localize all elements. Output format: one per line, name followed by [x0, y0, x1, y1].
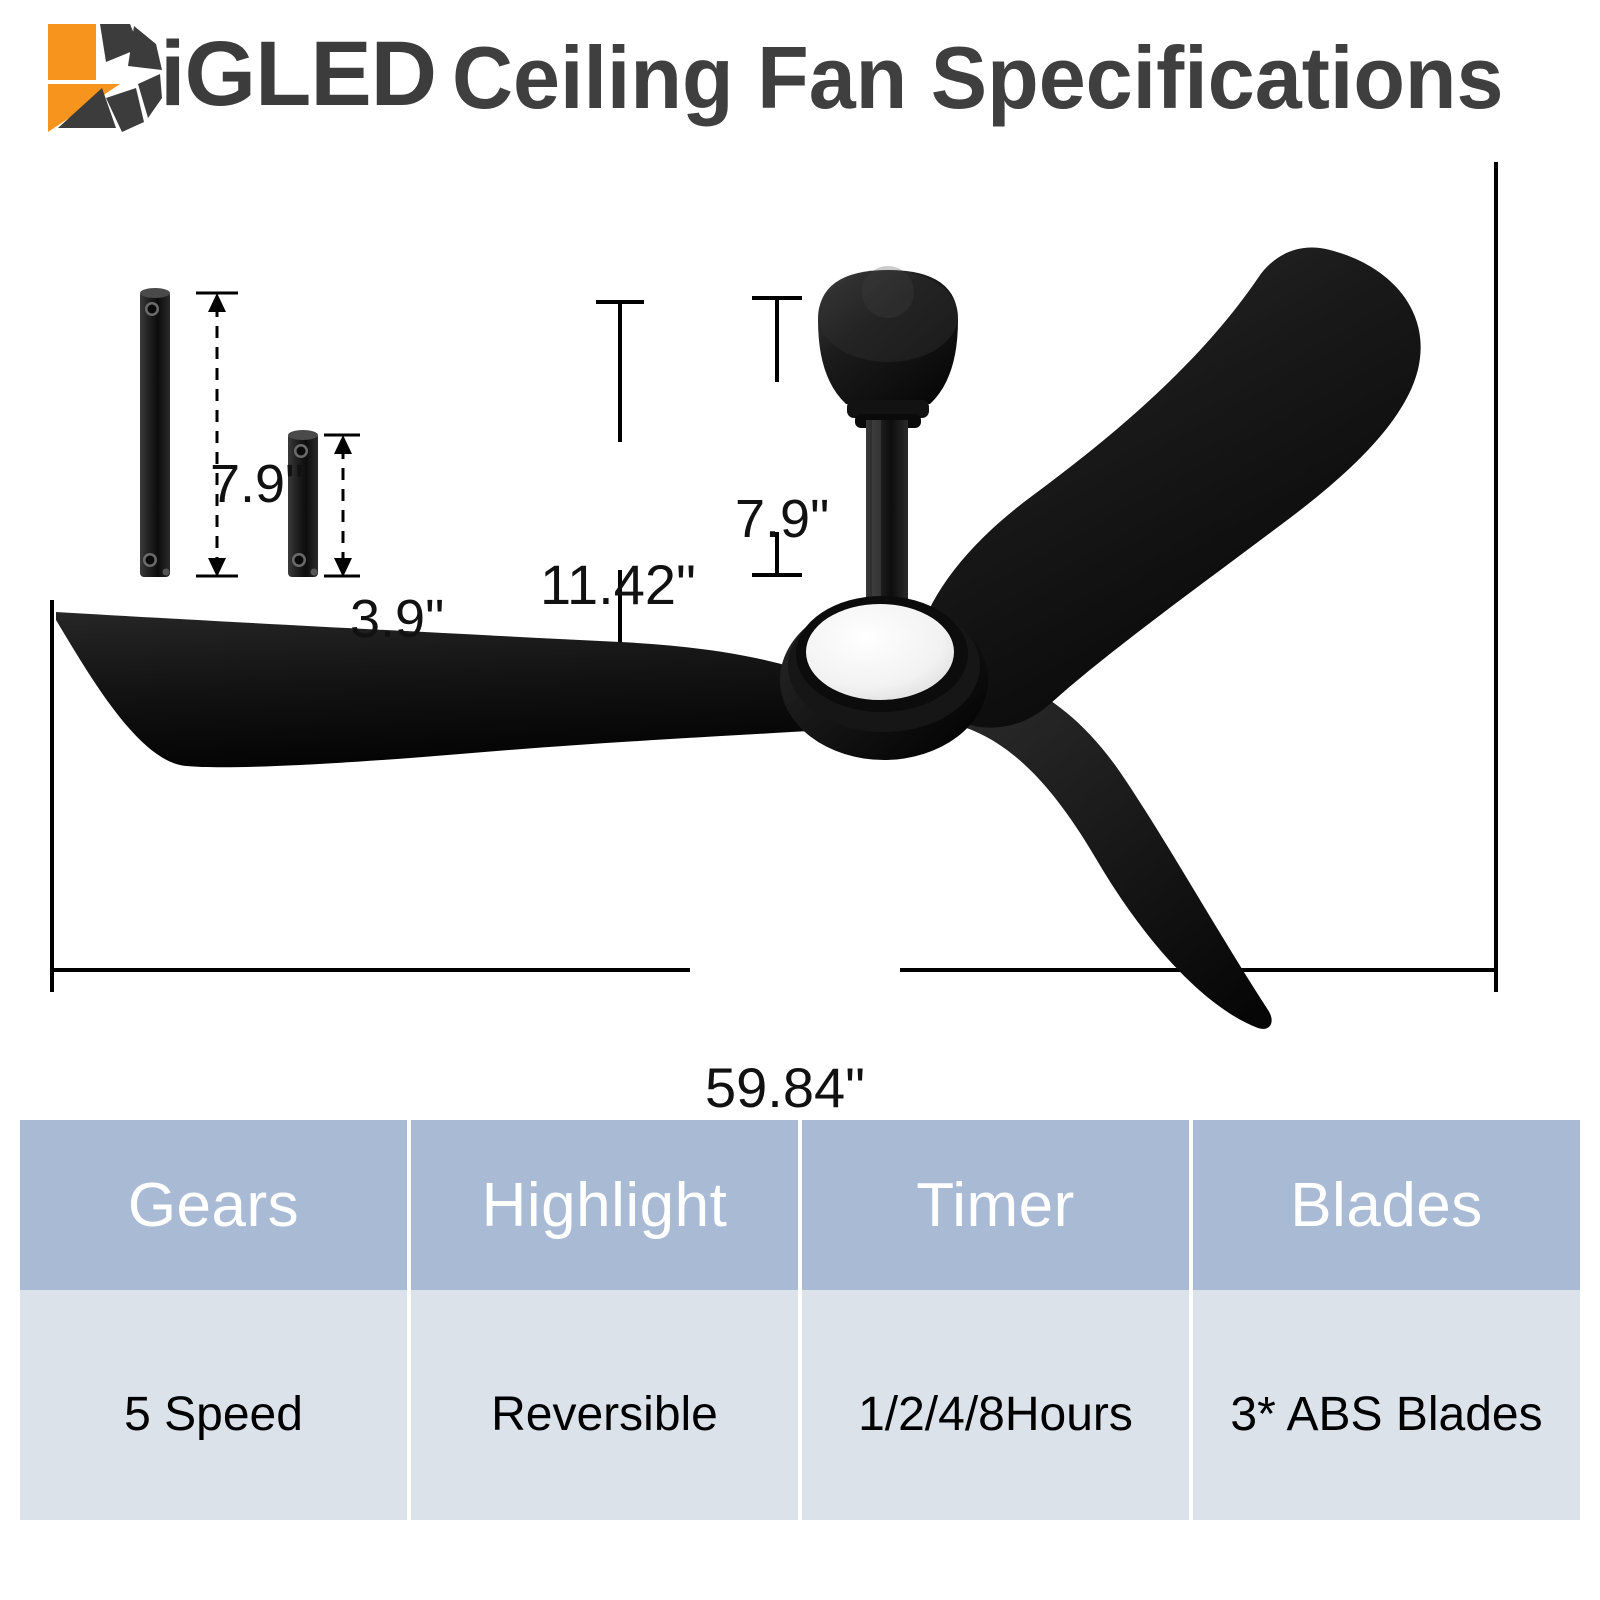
brand-wordmark: iGLED [160, 28, 436, 120]
specifications-table: Gears 5 Speed Highlight Reversible Timer… [20, 1120, 1580, 1520]
arrow-up-icon [208, 293, 226, 312]
ceiling-canopy-icon [818, 266, 958, 428]
spec-column-gears: Gears 5 Speed [20, 1120, 407, 1520]
spec-value-gears: 5 Speed [20, 1290, 407, 1520]
dimension-label-downrod-long: 7.9" [210, 453, 304, 515]
dimension-label-blade-span: 59.84" [705, 1055, 865, 1120]
downrod-long-icon [140, 288, 170, 577]
spec-value-highlight: Reversible [411, 1290, 798, 1520]
page-title: Ceiling Fan Specifications [452, 30, 1504, 125]
spec-column-timer: Timer 1/2/4/8Hours [802, 1120, 1189, 1520]
spec-header-gears: Gears [20, 1120, 407, 1290]
fan-blade-left-icon [56, 612, 878, 767]
spec-value-timer: 1/2/4/8Hours [802, 1290, 1189, 1520]
spec-value-blades: 3* ABS Blades [1193, 1290, 1580, 1520]
fan-blade-upper-right-icon [912, 248, 1421, 728]
dimension-label-overall-height: 11.42" [540, 552, 696, 617]
arrow-up-icon [334, 435, 352, 454]
spec-header-timer: Timer [802, 1120, 1189, 1290]
led-light-lens-icon [796, 596, 968, 712]
arrow-down-icon [334, 558, 352, 577]
downrod-icon [866, 420, 908, 620]
ceiling-fan-dimension-diagram: 7.9" 3.9" 11.42" 7.9" 59.84" [0, 120, 1600, 1050]
aperture-d-logo-icon [44, 22, 172, 134]
page-header: iGLED Ceiling Fan Specifications [0, 0, 1600, 140]
arrow-down-icon [208, 558, 226, 577]
dimension-label-hanging-height: 7.9" [735, 488, 829, 550]
dimension-line-downrod-long [196, 293, 238, 576]
spec-column-blades: Blades 3* ABS Blades [1193, 1120, 1580, 1520]
spec-header-blades: Blades [1193, 1120, 1580, 1290]
dimension-line-downrod-short [324, 435, 360, 576]
dimension-label-downrod-short: 3.9" [350, 588, 444, 650]
spec-header-highlight: Highlight [411, 1120, 798, 1290]
spec-column-highlight: Highlight Reversible [411, 1120, 798, 1520]
